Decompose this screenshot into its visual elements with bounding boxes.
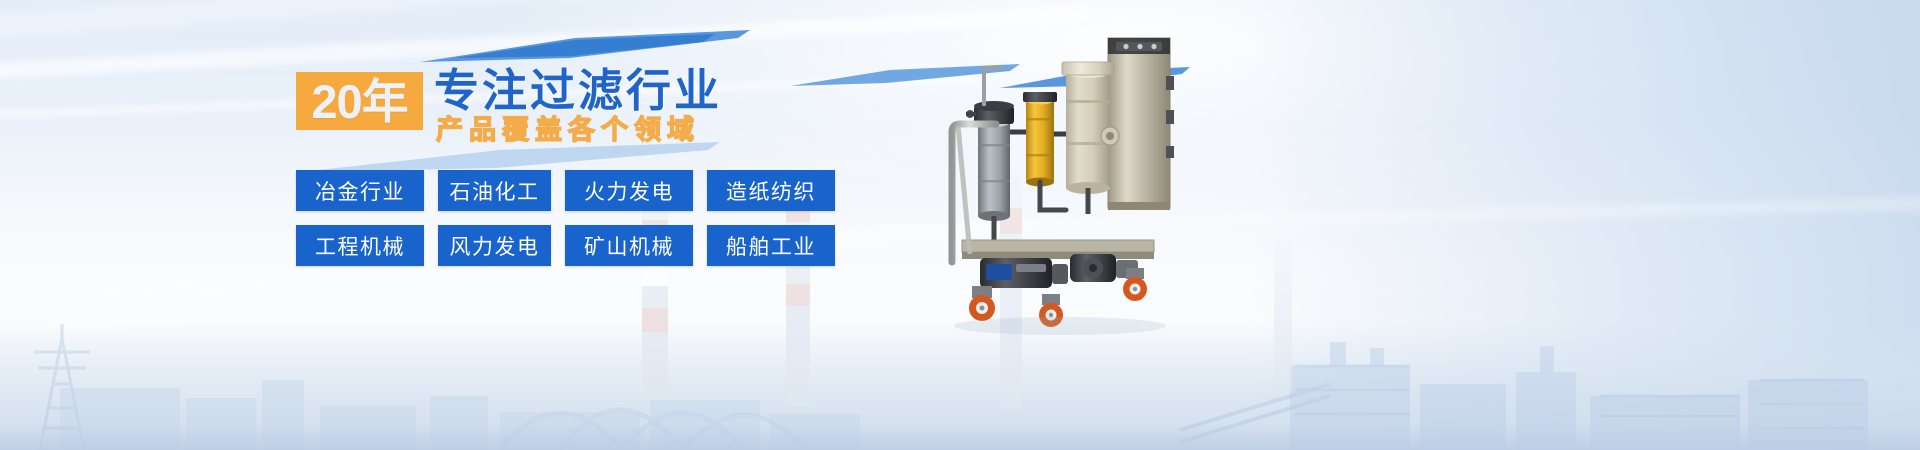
years-badge-label: 20年 bbox=[311, 78, 407, 125]
oil-filter-cart-illustration bbox=[940, 14, 1240, 344]
smokestack bbox=[1274, 240, 1292, 390]
industry-tag-list: 冶金行业 石油化工 火力发电 造纸纺织 工程机械 风力发电 矿山机械 船舶工业 bbox=[296, 170, 856, 266]
bottom-edge-gradient bbox=[0, 424, 1920, 450]
tag-metallurgy[interactable]: 冶金行业 bbox=[296, 170, 424, 211]
tag-row: 工程机械 风力发电 矿山机械 船舶工业 bbox=[296, 225, 856, 266]
tag-shipbuilding[interactable]: 船舶工业 bbox=[707, 225, 835, 266]
years-badge: 20年 bbox=[296, 72, 423, 130]
tag-construction-machinery[interactable]: 工程机械 bbox=[296, 225, 424, 266]
tag-petrochemical[interactable]: 石油化工 bbox=[438, 170, 551, 211]
tag-thermal-power[interactable]: 火力发电 bbox=[565, 170, 693, 211]
tag-row: 冶金行业 石油化工 火力发电 造纸纺织 bbox=[296, 170, 856, 211]
tag-paper-textile[interactable]: 造纸纺织 bbox=[707, 170, 835, 211]
tag-mining-machinery[interactable]: 矿山机械 bbox=[565, 225, 693, 266]
blue-chevron-ribbon-icon bbox=[455, 28, 715, 68]
hero-banner: 20年 专注过滤行业 产品覆盖各个领域 冶金行业 石油化工 火力发电 造纸纺织 … bbox=[0, 0, 1920, 450]
tag-wind-power[interactable]: 风力发电 bbox=[438, 225, 551, 266]
product-image-oil-filtration-cart bbox=[940, 14, 1240, 344]
page-title: 专注过滤行业 bbox=[434, 68, 722, 113]
headline-block: 20年 专注过滤行业 产品覆盖各个领域 bbox=[296, 72, 722, 144]
page-subtitle: 产品覆盖各个领域 bbox=[436, 117, 722, 144]
